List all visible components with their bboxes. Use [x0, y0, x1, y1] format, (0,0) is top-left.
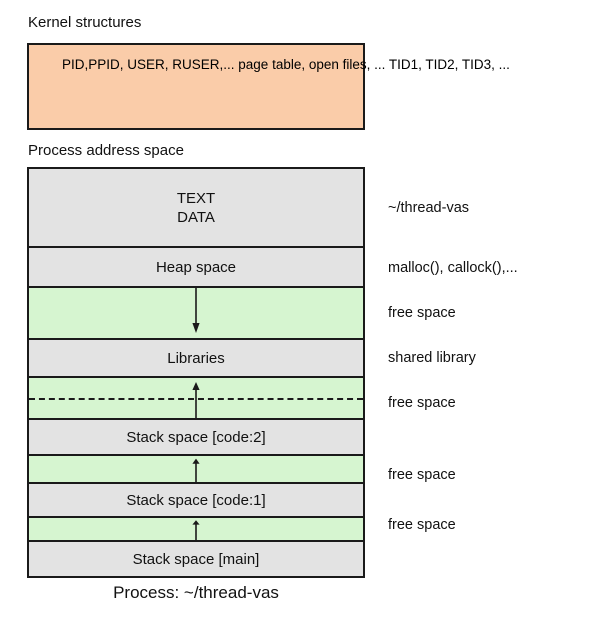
memory-row-libraries: Libraries — [29, 340, 363, 378]
heap-growth-arrow-down — [186, 288, 206, 338]
memory-row-free-space-2 — [29, 288, 363, 340]
kernel-structures-heading: Kernel structures — [28, 14, 141, 32]
memory-row-label: Heap space — [156, 258, 236, 277]
side-note-free-space: free space — [388, 304, 456, 322]
side-note-free-space: free space — [388, 516, 456, 534]
stack-growth-arrow-up — [186, 518, 206, 540]
memory-row-label: Stack space [code:2] — [126, 428, 265, 447]
kernel-structures-box: PID,PPID, USER, RUSER,... page table, op… — [27, 43, 365, 130]
memory-row-heap-space: Heap space — [29, 248, 363, 288]
kernel-structures-text: PID,PPID, USER, RUSER,... page table, op… — [62, 55, 510, 75]
memory-row-stack-space-code-2: Stack space [code:2] — [29, 420, 363, 456]
memory-row-text-data: TEXT DATA — [29, 169, 363, 248]
process-address-space-diagram: TEXT DATAHeap spaceLibrariesStack space … — [27, 167, 365, 578]
side-note-free-space: free space — [388, 466, 456, 484]
side-note-shared-library: shared library — [388, 349, 476, 367]
memory-row-stack-space-code-1: Stack space [code:1] — [29, 484, 363, 518]
memory-row-free-space-4 — [29, 378, 363, 420]
memory-row-free-space-6 — [29, 456, 363, 484]
memory-row-stack-space-main: Stack space [main] — [29, 542, 363, 576]
memory-row-label: Stack space [main] — [133, 550, 260, 569]
memory-row-label: Libraries — [167, 349, 225, 368]
side-note-free-space: free space — [388, 394, 456, 412]
process-address-space-heading: Process address space — [28, 142, 184, 160]
side-note-malloc-callock: malloc(), callock(),... — [388, 259, 518, 277]
side-note-thread-vas: ~/thread-vas — [388, 199, 469, 217]
stack-growth-arrow-up — [186, 378, 206, 418]
memory-row-free-space-8 — [29, 518, 363, 542]
diagram-caption: Process: ~/thread-vas — [0, 583, 392, 603]
memory-row-label: TEXT DATA — [177, 189, 215, 227]
stack-growth-arrow-up — [186, 456, 206, 482]
memory-row-label: Stack space [code:1] — [126, 491, 265, 510]
